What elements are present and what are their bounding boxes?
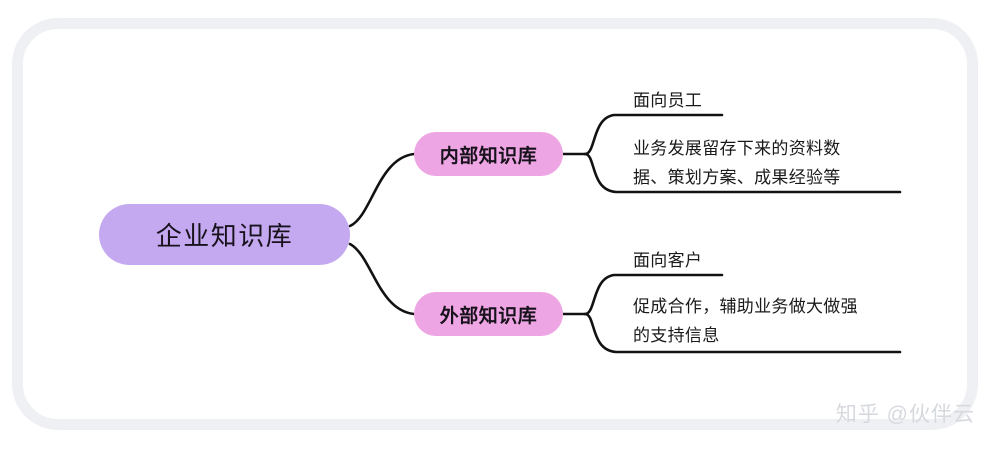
watermark: 知乎 @伙伴云 <box>836 398 975 428</box>
leaf-external-audience: 面向客户 <box>633 246 702 275</box>
leaf-internal-description: 业务发展留存下来的资料数 据、策划方案、成果经验等 <box>633 134 885 192</box>
leaf-internal-audience: 面向员工 <box>633 86 702 115</box>
mindmap-canvas: 企业知识库 内部知识库 外部知识库 面向员工 业务发展留存下来的资料数 据、策划… <box>0 0 1007 450</box>
node-root-label: 企业知识库 <box>156 216 294 253</box>
node-branch-internal-label: 内部知识库 <box>440 141 538 168</box>
connector-root-to-branch-1 <box>350 154 414 226</box>
node-branch-external[interactable]: 外部知识库 <box>414 292 563 336</box>
node-branch-external-label: 外部知识库 <box>440 301 538 328</box>
node-root[interactable]: 企业知识库 <box>99 204 350 265</box>
node-branch-internal[interactable]: 内部知识库 <box>414 132 563 176</box>
leaf-external-description: 促成合作，辅助业务做大做强 的支持信息 <box>633 292 905 350</box>
connector-root-to-branch-2 <box>350 244 414 314</box>
